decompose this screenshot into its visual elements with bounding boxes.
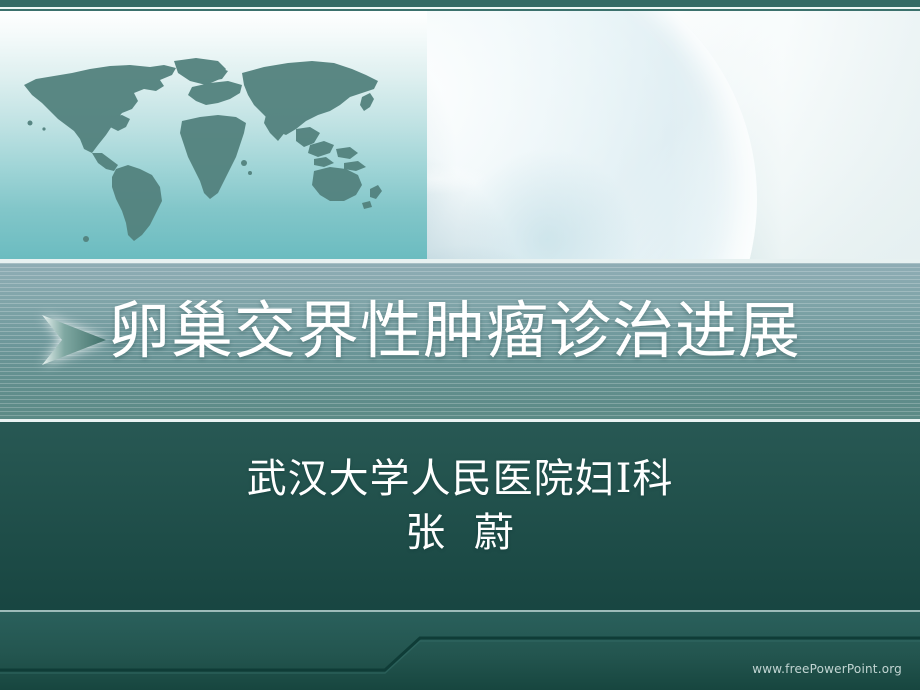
title-band: 卵巢交界性肿瘤诊治进展	[0, 263, 920, 419]
top-border-band	[0, 0, 920, 7]
hero-banner	[0, 11, 920, 259]
globe-earth-image	[427, 11, 757, 259]
affiliation-line: 武汉大学人民医院妇I科	[247, 452, 674, 506]
step-rule-decoration	[0, 612, 920, 690]
presentation-slide: 卵巢交界性肿瘤诊治进展 武汉大学人民医院妇I科 张 蔚 www.freePowe…	[0, 0, 920, 690]
subtitle-block: 武汉大学人民医院妇I科 张 蔚	[0, 422, 920, 612]
globe-panel	[437, 11, 920, 259]
chevron-right-icon	[40, 311, 110, 369]
world-map-panel	[0, 11, 437, 259]
bottom-panel: www.freePowerPoint.org	[0, 612, 920, 690]
world-map-icon	[14, 53, 434, 253]
author-line: 张 蔚	[405, 506, 514, 560]
page-title: 卵巢交界性肿瘤诊治进展	[108, 297, 801, 365]
watermark-text: www.freePowerPoint.org	[752, 662, 902, 676]
globe-limb-highlight	[427, 11, 757, 259]
